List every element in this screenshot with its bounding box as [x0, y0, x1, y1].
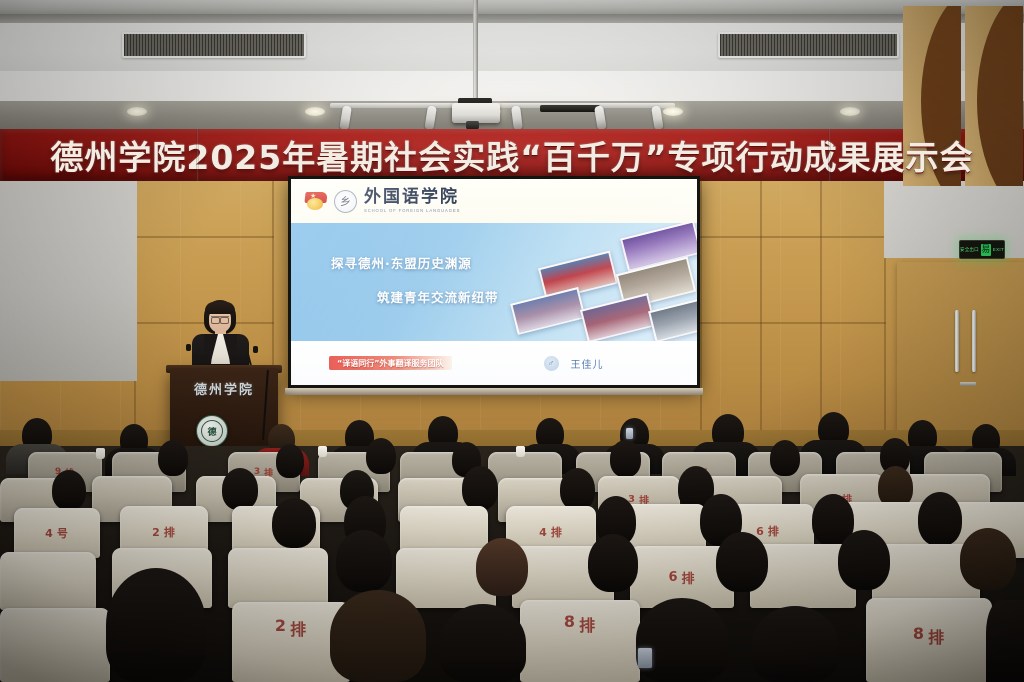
collage-thumb	[580, 293, 656, 341]
downlight-icon	[840, 107, 860, 116]
emergency-exit-sign: 安全出口 易 EXIT	[959, 240, 1005, 259]
audience-head	[106, 568, 206, 682]
audience-head	[222, 468, 258, 510]
exit-sign-text-cn: 安全出口	[960, 247, 979, 253]
university-emblem-glyph: 德	[201, 420, 223, 442]
exit-sign-text-en: EXIT	[993, 247, 1004, 252]
seat-back	[228, 548, 328, 608]
audience-head	[636, 598, 728, 682]
school-seal-icon: 乡	[334, 190, 357, 213]
audience-head	[588, 534, 638, 592]
paper-cup	[96, 448, 105, 459]
audience-head	[918, 492, 962, 546]
event-banner: 德州学院2025年暑期社会实践“百千万”专项行动成果展示会	[0, 129, 1024, 181]
auditorium-photo: 德州学院2025年暑期社会实践“百千万”专项行动成果展示会 ★ 乡 外国语学院 …	[0, 0, 1024, 682]
audience-head	[52, 470, 86, 510]
audience-head	[476, 538, 528, 596]
audience-head	[752, 606, 838, 682]
downlight-icon	[663, 107, 683, 116]
audience-head	[838, 530, 890, 590]
microphone-head	[186, 344, 191, 351]
paper-cup	[516, 446, 525, 457]
slide-headline-2: 筑建青年交流新纽带	[377, 287, 499, 306]
air-vent-icon	[122, 32, 306, 58]
audience-head	[440, 604, 526, 682]
screen-bottom-bar	[285, 388, 703, 395]
projector-mount-pole	[473, 0, 478, 104]
seat-marker: 4号	[14, 508, 100, 558]
lighting-track	[330, 103, 675, 108]
seat-back: 8排	[520, 600, 640, 682]
bar-light-fixture	[540, 105, 600, 112]
presenter-fringe	[205, 302, 235, 314]
seat-back	[0, 552, 96, 610]
running-person-icon: 易	[981, 244, 991, 256]
seat-back	[0, 608, 110, 682]
slide-photo-collage	[523, 225, 697, 341]
phone-screen	[626, 428, 633, 439]
audience-head	[986, 600, 1024, 682]
ceiling-upper-slab	[0, 0, 1024, 14]
door-handle-left[interactable]	[955, 310, 959, 372]
seat-marker: 8排	[866, 598, 992, 682]
microphone-head	[253, 346, 258, 353]
audience-head	[276, 444, 304, 478]
downlight-icon	[305, 107, 325, 116]
slide-project-label-text: “译语同行”外事翻译服务团队	[337, 358, 444, 369]
audience-head	[770, 440, 800, 476]
downlight-icon	[127, 107, 147, 116]
league-star-glyph: ★	[310, 193, 316, 200]
seat-marker: 8排	[520, 600, 640, 682]
wall-seam	[760, 181, 762, 446]
podium-institution-text: 德州学院	[176, 379, 272, 397]
audience-head	[716, 532, 768, 592]
audience-head	[960, 528, 1016, 590]
slide-headline-1: 探寻德州·东盟历史渊源	[331, 253, 472, 272]
seat-back: 8排	[866, 598, 992, 682]
audience-head	[366, 438, 396, 474]
audience-head	[158, 440, 188, 476]
wall-seam	[700, 181, 702, 446]
university-emblem: 德	[196, 415, 228, 447]
glasses-icon	[211, 316, 229, 322]
slide-header: ★ 乡 外国语学院 SCHOOL OF FOREIGN LANGUAGES	[291, 179, 697, 223]
ceiling-projector	[452, 103, 500, 123]
audience-head	[336, 530, 392, 592]
left-wall-gray-panel	[0, 181, 137, 381]
presenter-avatar-icon: ♂	[544, 356, 559, 371]
paper-cup	[318, 446, 327, 457]
banner-fold	[828, 129, 831, 181]
wall-seam	[700, 236, 886, 238]
seat-back: 4号	[14, 508, 100, 558]
youth-league-emblem-icon: ★	[305, 191, 327, 211]
ceiling-shadow-band	[0, 14, 1024, 23]
wall-seam	[700, 322, 886, 324]
banner-title: 德州学院2025年暑期社会实践“百千万”专项行动成果展示会	[0, 129, 1024, 181]
air-vent-icon	[718, 32, 899, 58]
auditorium-door-frame	[897, 262, 1024, 448]
audience-head	[272, 498, 316, 548]
phone-screen	[638, 648, 652, 668]
slide-footer: “译语同行”外事翻译服务团队 ♂ 王佳儿	[291, 341, 697, 385]
banner-fold	[196, 129, 199, 181]
collage-thumb	[648, 295, 697, 341]
projection-screen: ★ 乡 外国语学院 SCHOOL OF FOREIGN LANGUAGES 探寻…	[288, 176, 700, 388]
audience-head	[330, 590, 426, 682]
audience-head	[560, 468, 595, 510]
slide-org-name-cn: 外国语学院	[364, 189, 460, 206]
slide-surface: ★ 乡 外国语学院 SCHOOL OF FOREIGN LANGUAGES 探寻…	[291, 179, 697, 385]
audience-head	[610, 440, 641, 477]
presenter-name: 王佳儿	[571, 356, 604, 371]
slide-project-label: “译语同行”外事翻译服务团队	[329, 356, 452, 370]
door-lock-icon	[960, 382, 976, 386]
slide-body: 探寻德州·东盟历史渊源 筑建青年交流新纽带	[291, 223, 697, 341]
ceiling-lower-panel	[0, 71, 1024, 101]
collage-thumb	[510, 287, 586, 335]
door-handle-right[interactable]	[972, 310, 976, 372]
audience-head	[462, 466, 498, 510]
slide-org-name-en: SCHOOL OF FOREIGN LANGUAGES	[364, 208, 460, 213]
wall-seam	[820, 181, 822, 446]
